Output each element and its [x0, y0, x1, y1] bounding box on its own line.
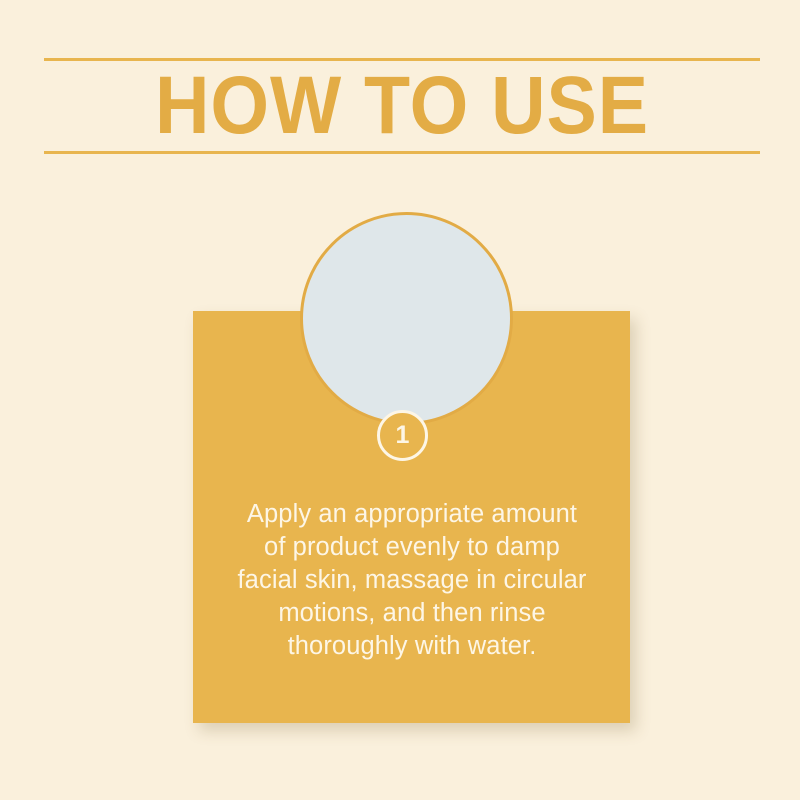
step-instruction-line: of product evenly to damp	[203, 531, 621, 564]
step-instruction-line: facial skin, massage in circular	[203, 564, 621, 597]
step-number-badge: 1	[377, 410, 428, 461]
header-rule-bottom	[44, 151, 760, 154]
page-header: HOW TO USE	[44, 58, 760, 154]
step-instruction-line: motions, and then rinse	[203, 597, 621, 630]
step-instruction-line: thoroughly with water.	[203, 630, 621, 663]
step-instruction-line: Apply an appropriate amount	[203, 498, 621, 531]
face-washing-photo-image	[303, 215, 510, 422]
step-instruction-text: Apply an appropriate amount of product e…	[203, 498, 621, 663]
page-title: HOW TO USE	[73, 60, 732, 151]
step-photo	[300, 212, 513, 425]
